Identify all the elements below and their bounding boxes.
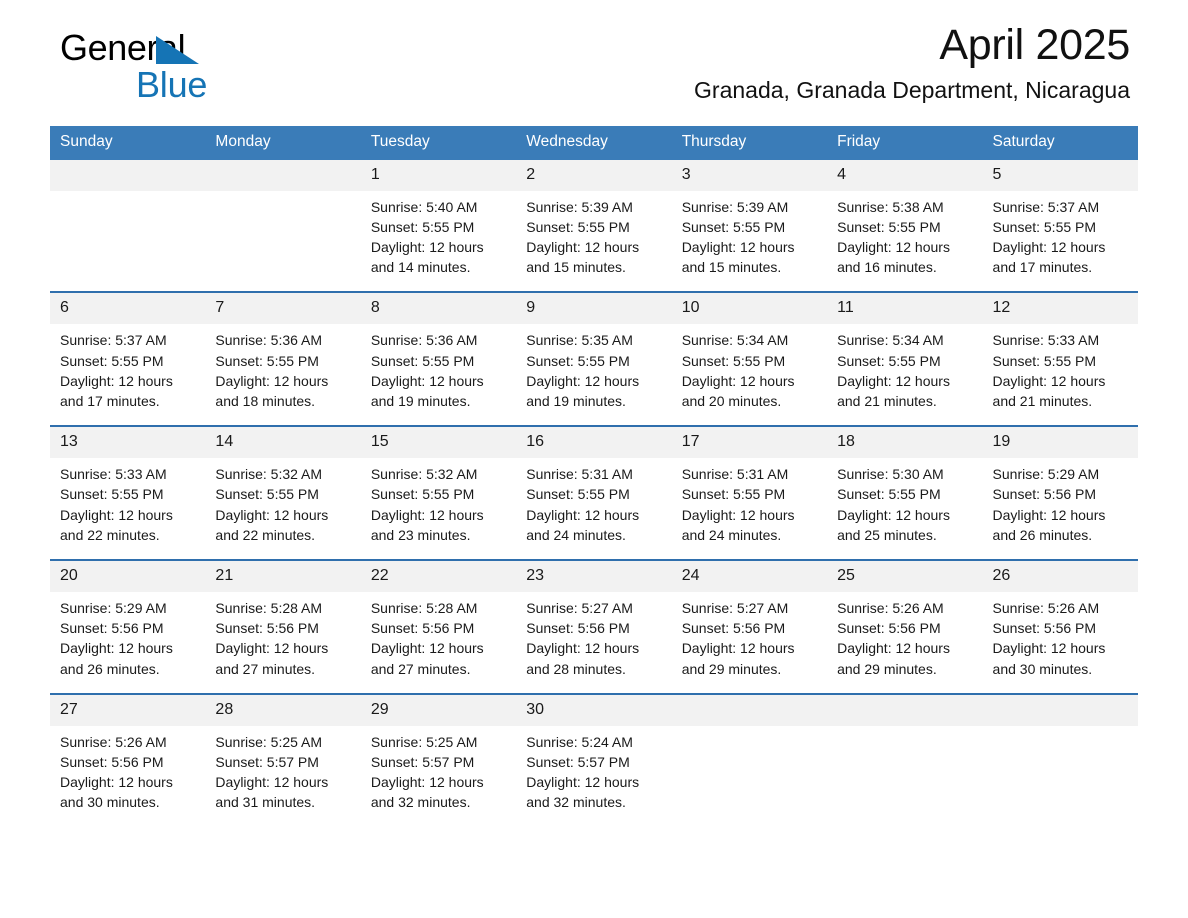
sunset-text: Sunset: 5:57 PM (215, 752, 350, 772)
day-number: 1 (361, 160, 516, 191)
day-number: 12 (983, 293, 1138, 324)
calendar-day-cell[interactable]: 7Sunrise: 5:36 AMSunset: 5:55 PMDaylight… (205, 292, 360, 426)
calendar-day-cell[interactable]: 16Sunrise: 5:31 AMSunset: 5:55 PMDayligh… (516, 426, 671, 560)
day-details: Sunrise: 5:39 AMSunset: 5:55 PMDaylight:… (672, 191, 827, 292)
sunset-text: Sunset: 5:55 PM (682, 484, 817, 504)
sunset-text: Sunset: 5:55 PM (993, 217, 1128, 237)
day-details: Sunrise: 5:33 AMSunset: 5:55 PMDaylight:… (983, 324, 1138, 425)
calendar-day-cell[interactable]: 28Sunrise: 5:25 AMSunset: 5:57 PMDayligh… (205, 694, 360, 827)
sunset-text: Sunset: 5:56 PM (60, 752, 195, 772)
daylight-text-line2: and 27 minutes. (371, 659, 506, 679)
sunset-text: Sunset: 5:56 PM (837, 618, 972, 638)
day-number (672, 695, 827, 726)
day-details (50, 191, 205, 274)
daylight-text-line2: and 31 minutes. (215, 792, 350, 812)
sunrise-text: Sunrise: 5:40 AM (371, 197, 506, 217)
day-details: Sunrise: 5:24 AMSunset: 5:57 PMDaylight:… (516, 726, 671, 827)
calendar-day-cell[interactable]: 4Sunrise: 5:38 AMSunset: 5:55 PMDaylight… (827, 160, 982, 293)
day-number: 28 (205, 695, 360, 726)
page-header: General Blue April 2025 Granada, Granada… (50, 0, 1138, 110)
daylight-text-line2: and 26 minutes. (60, 659, 195, 679)
daylight-text-line2: and 16 minutes. (837, 257, 972, 277)
day-details: Sunrise: 5:27 AMSunset: 5:56 PMDaylight:… (516, 592, 671, 693)
daylight-text-line1: Daylight: 12 hours (215, 772, 350, 792)
day-details: Sunrise: 5:31 AMSunset: 5:55 PMDaylight:… (516, 458, 671, 559)
calendar-day-cell[interactable]: 2Sunrise: 5:39 AMSunset: 5:55 PMDaylight… (516, 160, 671, 293)
daylight-text-line2: and 30 minutes. (60, 792, 195, 812)
calendar-day-cell[interactable]: 17Sunrise: 5:31 AMSunset: 5:55 PMDayligh… (672, 426, 827, 560)
sunrise-text: Sunrise: 5:33 AM (993, 330, 1128, 350)
sunset-text: Sunset: 5:56 PM (526, 618, 661, 638)
sunset-text: Sunset: 5:56 PM (215, 618, 350, 638)
sunset-text: Sunset: 5:56 PM (682, 618, 817, 638)
sunset-text: Sunset: 5:55 PM (837, 484, 972, 504)
day-details: Sunrise: 5:27 AMSunset: 5:56 PMDaylight:… (672, 592, 827, 693)
day-number: 14 (205, 427, 360, 458)
day-details (672, 726, 827, 809)
calendar-day-cell-empty (205, 160, 360, 293)
day-number: 16 (516, 427, 671, 458)
sunset-text: Sunset: 5:55 PM (60, 351, 195, 371)
daylight-text-line1: Daylight: 12 hours (837, 237, 972, 257)
sunrise-text: Sunrise: 5:34 AM (682, 330, 817, 350)
general-blue-logo[interactable]: General Blue (60, 30, 330, 110)
daylight-text-line1: Daylight: 12 hours (371, 371, 506, 391)
sunset-text: Sunset: 5:55 PM (993, 351, 1128, 371)
day-details: Sunrise: 5:40 AMSunset: 5:55 PMDaylight:… (361, 191, 516, 292)
sunset-text: Sunset: 5:57 PM (371, 752, 506, 772)
logo-text-blue: Blue (136, 67, 330, 103)
daylight-text-line1: Daylight: 12 hours (526, 371, 661, 391)
day-details: Sunrise: 5:31 AMSunset: 5:55 PMDaylight:… (672, 458, 827, 559)
day-number: 4 (827, 160, 982, 191)
day-details: Sunrise: 5:37 AMSunset: 5:55 PMDaylight:… (50, 324, 205, 425)
day-details: Sunrise: 5:35 AMSunset: 5:55 PMDaylight:… (516, 324, 671, 425)
day-details: Sunrise: 5:28 AMSunset: 5:56 PMDaylight:… (205, 592, 360, 693)
daylight-text-line1: Daylight: 12 hours (60, 638, 195, 658)
sunset-text: Sunset: 5:56 PM (60, 618, 195, 638)
calendar-day-cell[interactable]: 24Sunrise: 5:27 AMSunset: 5:56 PMDayligh… (672, 560, 827, 694)
day-number (983, 695, 1138, 726)
daylight-text-line2: and 18 minutes. (215, 391, 350, 411)
day-number (827, 695, 982, 726)
calendar-day-cell[interactable]: 22Sunrise: 5:28 AMSunset: 5:56 PMDayligh… (361, 560, 516, 694)
daylight-text-line1: Daylight: 12 hours (682, 237, 817, 257)
day-number: 21 (205, 561, 360, 592)
sunset-text: Sunset: 5:55 PM (526, 484, 661, 504)
day-number: 10 (672, 293, 827, 324)
sunset-text: Sunset: 5:57 PM (526, 752, 661, 772)
calendar-day-cell[interactable]: 10Sunrise: 5:34 AMSunset: 5:55 PMDayligh… (672, 292, 827, 426)
daylight-text-line1: Daylight: 12 hours (60, 505, 195, 525)
sunset-text: Sunset: 5:55 PM (371, 351, 506, 371)
calendar-day-cell[interactable]: 14Sunrise: 5:32 AMSunset: 5:55 PMDayligh… (205, 426, 360, 560)
sunset-text: Sunset: 5:55 PM (371, 484, 506, 504)
calendar-day-cell[interactable]: 3Sunrise: 5:39 AMSunset: 5:55 PMDaylight… (672, 160, 827, 293)
calendar-day-cell[interactable]: 26Sunrise: 5:26 AMSunset: 5:56 PMDayligh… (983, 560, 1138, 694)
calendar-day-cell-empty (50, 160, 205, 293)
sunset-text: Sunset: 5:55 PM (215, 351, 350, 371)
daylight-text-line2: and 24 minutes. (526, 525, 661, 545)
daylight-text-line1: Daylight: 12 hours (215, 638, 350, 658)
daylight-text-line1: Daylight: 12 hours (371, 772, 506, 792)
sunrise-text: Sunrise: 5:24 AM (526, 732, 661, 752)
sunrise-sunset-calendar: Sunday Monday Tuesday Wednesday Thursday… (50, 126, 1138, 827)
daylight-text-line2: and 27 minutes. (215, 659, 350, 679)
daylight-text-line1: Daylight: 12 hours (837, 371, 972, 391)
day-number: 26 (983, 561, 1138, 592)
calendar-day-cell[interactable]: 12Sunrise: 5:33 AMSunset: 5:55 PMDayligh… (983, 292, 1138, 426)
day-details (983, 726, 1138, 809)
daylight-text-line2: and 29 minutes. (837, 659, 972, 679)
sunrise-text: Sunrise: 5:39 AM (682, 197, 817, 217)
calendar-day-cell[interactable]: 23Sunrise: 5:27 AMSunset: 5:56 PMDayligh… (516, 560, 671, 694)
calendar-week-row: 13Sunrise: 5:33 AMSunset: 5:55 PMDayligh… (50, 426, 1138, 560)
day-number: 25 (827, 561, 982, 592)
sunrise-text: Sunrise: 5:39 AM (526, 197, 661, 217)
daylight-text-line2: and 17 minutes. (993, 257, 1128, 277)
weekday-header-saturday: Saturday (983, 126, 1138, 160)
daylight-text-line2: and 14 minutes. (371, 257, 506, 277)
daylight-text-line1: Daylight: 12 hours (371, 638, 506, 658)
daylight-text-line2: and 20 minutes. (682, 391, 817, 411)
day-number: 2 (516, 160, 671, 191)
day-number (50, 160, 205, 191)
daylight-text-line2: and 21 minutes. (837, 391, 972, 411)
daylight-text-line2: and 15 minutes. (526, 257, 661, 277)
sunset-text: Sunset: 5:55 PM (60, 484, 195, 504)
day-details: Sunrise: 5:26 AMSunset: 5:56 PMDaylight:… (827, 592, 982, 693)
calendar-page: General Blue April 2025 Granada, Granada… (0, 0, 1188, 918)
calendar-day-cell[interactable]: 8Sunrise: 5:36 AMSunset: 5:55 PMDaylight… (361, 292, 516, 426)
day-details: Sunrise: 5:33 AMSunset: 5:55 PMDaylight:… (50, 458, 205, 559)
sunrise-text: Sunrise: 5:31 AM (682, 464, 817, 484)
sunset-text: Sunset: 5:56 PM (993, 618, 1128, 638)
day-details: Sunrise: 5:29 AMSunset: 5:56 PMDaylight:… (983, 458, 1138, 559)
calendar-day-cell[interactable]: 5Sunrise: 5:37 AMSunset: 5:55 PMDaylight… (983, 160, 1138, 293)
day-number: 7 (205, 293, 360, 324)
weekday-header-wednesday: Wednesday (516, 126, 671, 160)
daylight-text-line2: and 32 minutes. (371, 792, 506, 812)
day-number: 24 (672, 561, 827, 592)
day-details: Sunrise: 5:32 AMSunset: 5:55 PMDaylight:… (205, 458, 360, 559)
sunrise-text: Sunrise: 5:32 AM (215, 464, 350, 484)
day-details: Sunrise: 5:38 AMSunset: 5:55 PMDaylight:… (827, 191, 982, 292)
daylight-text-line1: Daylight: 12 hours (526, 237, 661, 257)
sunrise-text: Sunrise: 5:29 AM (60, 598, 195, 618)
day-details: Sunrise: 5:39 AMSunset: 5:55 PMDaylight:… (516, 191, 671, 292)
daylight-text-line1: Daylight: 12 hours (526, 505, 661, 525)
sunrise-text: Sunrise: 5:27 AM (682, 598, 817, 618)
calendar-week-row: 27Sunrise: 5:26 AMSunset: 5:56 PMDayligh… (50, 694, 1138, 827)
day-number (205, 160, 360, 191)
sunrise-text: Sunrise: 5:26 AM (60, 732, 195, 752)
day-number: 13 (50, 427, 205, 458)
daylight-text-line2: and 15 minutes. (682, 257, 817, 277)
daylight-text-line2: and 29 minutes. (682, 659, 817, 679)
daylight-text-line1: Daylight: 12 hours (993, 237, 1128, 257)
day-details (205, 191, 360, 274)
daylight-text-line1: Daylight: 12 hours (371, 237, 506, 257)
calendar-week-row: 6Sunrise: 5:37 AMSunset: 5:55 PMDaylight… (50, 292, 1138, 426)
day-details: Sunrise: 5:26 AMSunset: 5:56 PMDaylight:… (50, 726, 205, 827)
sunrise-text: Sunrise: 5:38 AM (837, 197, 972, 217)
day-number: 6 (50, 293, 205, 324)
sunrise-text: Sunrise: 5:30 AM (837, 464, 972, 484)
sunset-text: Sunset: 5:55 PM (215, 484, 350, 504)
daylight-text-line2: and 24 minutes. (682, 525, 817, 545)
day-number: 8 (361, 293, 516, 324)
calendar-day-cell[interactable]: 11Sunrise: 5:34 AMSunset: 5:55 PMDayligh… (827, 292, 982, 426)
sunrise-text: Sunrise: 5:33 AM (60, 464, 195, 484)
day-number: 23 (516, 561, 671, 592)
daylight-text-line2: and 19 minutes. (371, 391, 506, 411)
daylight-text-line1: Daylight: 12 hours (215, 371, 350, 391)
sunset-text: Sunset: 5:55 PM (837, 217, 972, 237)
daylight-text-line2: and 21 minutes. (993, 391, 1128, 411)
daylight-text-line1: Daylight: 12 hours (215, 505, 350, 525)
sunrise-text: Sunrise: 5:31 AM (526, 464, 661, 484)
day-number: 17 (672, 427, 827, 458)
sunrise-text: Sunrise: 5:37 AM (993, 197, 1128, 217)
calendar-week-row: 1Sunrise: 5:40 AMSunset: 5:55 PMDaylight… (50, 160, 1138, 293)
calendar-day-cell-empty (827, 694, 982, 827)
calendar-day-cell[interactable]: 1Sunrise: 5:40 AMSunset: 5:55 PMDaylight… (361, 160, 516, 293)
daylight-text-line1: Daylight: 12 hours (526, 638, 661, 658)
weekday-header-friday: Friday (827, 126, 982, 160)
weekday-header-sunday: Sunday (50, 126, 205, 160)
day-details: Sunrise: 5:25 AMSunset: 5:57 PMDaylight:… (205, 726, 360, 827)
day-number: 29 (361, 695, 516, 726)
calendar-day-cell[interactable]: 13Sunrise: 5:33 AMSunset: 5:55 PMDayligh… (50, 426, 205, 560)
calendar-day-cell[interactable]: 18Sunrise: 5:30 AMSunset: 5:55 PMDayligh… (827, 426, 982, 560)
day-number: 11 (827, 293, 982, 324)
day-details: Sunrise: 5:34 AMSunset: 5:55 PMDaylight:… (672, 324, 827, 425)
sunset-text: Sunset: 5:55 PM (837, 351, 972, 371)
calendar-day-cell[interactable]: 21Sunrise: 5:28 AMSunset: 5:56 PMDayligh… (205, 560, 360, 694)
day-details: Sunrise: 5:30 AMSunset: 5:55 PMDaylight:… (827, 458, 982, 559)
sunrise-text: Sunrise: 5:36 AM (215, 330, 350, 350)
sunset-text: Sunset: 5:55 PM (526, 217, 661, 237)
weekday-header-tuesday: Tuesday (361, 126, 516, 160)
day-number: 15 (361, 427, 516, 458)
calendar-day-cell[interactable]: 27Sunrise: 5:26 AMSunset: 5:56 PMDayligh… (50, 694, 205, 827)
day-number: 20 (50, 561, 205, 592)
day-number: 5 (983, 160, 1138, 191)
sunrise-text: Sunrise: 5:34 AM (837, 330, 972, 350)
daylight-text-line1: Daylight: 12 hours (371, 505, 506, 525)
sunrise-text: Sunrise: 5:25 AM (371, 732, 506, 752)
daylight-text-line1: Daylight: 12 hours (837, 638, 972, 658)
daylight-text-line2: and 30 minutes. (993, 659, 1128, 679)
sunset-text: Sunset: 5:56 PM (371, 618, 506, 638)
day-details: Sunrise: 5:32 AMSunset: 5:55 PMDaylight:… (361, 458, 516, 559)
day-number: 27 (50, 695, 205, 726)
day-details: Sunrise: 5:26 AMSunset: 5:56 PMDaylight:… (983, 592, 1138, 693)
day-number: 9 (516, 293, 671, 324)
daylight-text-line2: and 23 minutes. (371, 525, 506, 545)
daylight-text-line1: Daylight: 12 hours (993, 638, 1128, 658)
daylight-text-line2: and 22 minutes. (215, 525, 350, 545)
day-details: Sunrise: 5:25 AMSunset: 5:57 PMDaylight:… (361, 726, 516, 827)
sunrise-text: Sunrise: 5:35 AM (526, 330, 661, 350)
day-details: Sunrise: 5:28 AMSunset: 5:56 PMDaylight:… (361, 592, 516, 693)
sunrise-text: Sunrise: 5:28 AM (371, 598, 506, 618)
day-details: Sunrise: 5:37 AMSunset: 5:55 PMDaylight:… (983, 191, 1138, 292)
sunrise-text: Sunrise: 5:25 AM (215, 732, 350, 752)
weekday-header-monday: Monday (205, 126, 360, 160)
day-number: 18 (827, 427, 982, 458)
day-details: Sunrise: 5:29 AMSunset: 5:56 PMDaylight:… (50, 592, 205, 693)
daylight-text-line1: Daylight: 12 hours (837, 505, 972, 525)
sunrise-text: Sunrise: 5:28 AM (215, 598, 350, 618)
calendar-day-cell[interactable]: 19Sunrise: 5:29 AMSunset: 5:56 PMDayligh… (983, 426, 1138, 560)
calendar-day-cell[interactable]: 20Sunrise: 5:29 AMSunset: 5:56 PMDayligh… (50, 560, 205, 694)
daylight-text-line1: Daylight: 12 hours (993, 371, 1128, 391)
day-number: 30 (516, 695, 671, 726)
sunset-text: Sunset: 5:55 PM (526, 351, 661, 371)
calendar-day-cell[interactable]: 25Sunrise: 5:26 AMSunset: 5:56 PMDayligh… (827, 560, 982, 694)
calendar-day-cell-empty (672, 694, 827, 827)
daylight-text-line1: Daylight: 12 hours (60, 371, 195, 391)
sunset-text: Sunset: 5:55 PM (682, 351, 817, 371)
sunrise-text: Sunrise: 5:37 AM (60, 330, 195, 350)
calendar-day-cell[interactable]: 6Sunrise: 5:37 AMSunset: 5:55 PMDaylight… (50, 292, 205, 426)
calendar-day-cell-empty (983, 694, 1138, 827)
daylight-text-line1: Daylight: 12 hours (526, 772, 661, 792)
sunrise-text: Sunrise: 5:32 AM (371, 464, 506, 484)
sunrise-text: Sunrise: 5:27 AM (526, 598, 661, 618)
day-number: 19 (983, 427, 1138, 458)
calendar-header-row: Sunday Monday Tuesday Wednesday Thursday… (50, 126, 1138, 160)
calendar-body: 1Sunrise: 5:40 AMSunset: 5:55 PMDaylight… (50, 160, 1138, 827)
sunrise-text: Sunrise: 5:36 AM (371, 330, 506, 350)
logo-text-general: General (60, 30, 330, 66)
daylight-text-line1: Daylight: 12 hours (682, 371, 817, 391)
day-number: 3 (672, 160, 827, 191)
weekday-header-thursday: Thursday (672, 126, 827, 160)
day-details: Sunrise: 5:34 AMSunset: 5:55 PMDaylight:… (827, 324, 982, 425)
sunrise-text: Sunrise: 5:26 AM (837, 598, 972, 618)
daylight-text-line2: and 28 minutes. (526, 659, 661, 679)
triangle-icon (156, 36, 199, 64)
sunrise-text: Sunrise: 5:29 AM (993, 464, 1128, 484)
daylight-text-line2: and 32 minutes. (526, 792, 661, 812)
calendar-day-cell[interactable]: 29Sunrise: 5:25 AMSunset: 5:57 PMDayligh… (361, 694, 516, 827)
calendar-day-cell[interactable]: 9Sunrise: 5:35 AMSunset: 5:55 PMDaylight… (516, 292, 671, 426)
sunrise-text: Sunrise: 5:26 AM (993, 598, 1128, 618)
day-details (827, 726, 982, 809)
daylight-text-line2: and 25 minutes. (837, 525, 972, 545)
sunset-text: Sunset: 5:55 PM (682, 217, 817, 237)
day-details: Sunrise: 5:36 AMSunset: 5:55 PMDaylight:… (361, 324, 516, 425)
calendar-day-cell[interactable]: 30Sunrise: 5:24 AMSunset: 5:57 PMDayligh… (516, 694, 671, 827)
daylight-text-line1: Daylight: 12 hours (60, 772, 195, 792)
daylight-text-line2: and 17 minutes. (60, 391, 195, 411)
daylight-text-line2: and 19 minutes. (526, 391, 661, 411)
calendar-week-row: 20Sunrise: 5:29 AMSunset: 5:56 PMDayligh… (50, 560, 1138, 694)
calendar-day-cell[interactable]: 15Sunrise: 5:32 AMSunset: 5:55 PMDayligh… (361, 426, 516, 560)
daylight-text-line2: and 22 minutes. (60, 525, 195, 545)
daylight-text-line1: Daylight: 12 hours (682, 638, 817, 658)
day-number: 22 (361, 561, 516, 592)
daylight-text-line2: and 26 minutes. (993, 525, 1128, 545)
daylight-text-line1: Daylight: 12 hours (993, 505, 1128, 525)
daylight-text-line1: Daylight: 12 hours (682, 505, 817, 525)
sunset-text: Sunset: 5:55 PM (371, 217, 506, 237)
day-details: Sunrise: 5:36 AMSunset: 5:55 PMDaylight:… (205, 324, 360, 425)
sunset-text: Sunset: 5:56 PM (993, 484, 1128, 504)
